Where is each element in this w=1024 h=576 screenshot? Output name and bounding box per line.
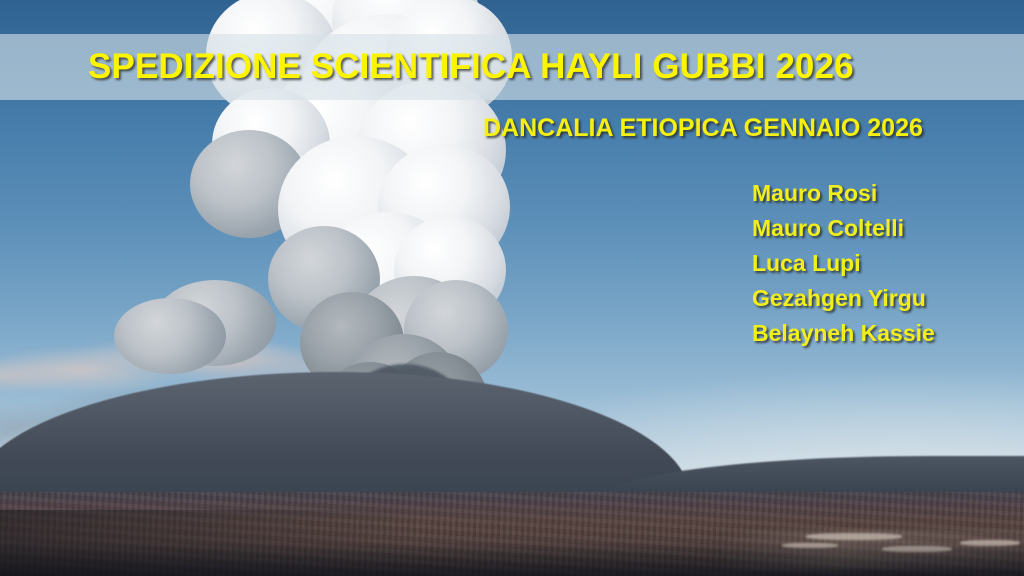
plain-shadow-bottom	[0, 542, 1024, 576]
list-item: Mauro Rosi	[752, 176, 935, 211]
page-title: SPEDIZIONE SCIENTIFICA HAYLI GUBBI 2026	[0, 34, 1024, 100]
list-item: Mauro Coltelli	[752, 211, 935, 246]
list-item: Luca Lupi	[752, 246, 935, 281]
slide-subtitle: DANCALIA ETIOPICA GENNAIO 2026	[483, 114, 923, 143]
volcano-cone	[0, 370, 1024, 500]
author-list: Mauro Rosi Mauro Coltelli Luca Lupi Geza…	[752, 176, 935, 351]
title-slide: SPEDIZIONE SCIENTIFICA HAYLI GUBBI 2026 …	[0, 0, 1024, 576]
desert-plain	[0, 492, 1024, 576]
list-item: Belayneh Kassie	[752, 316, 935, 351]
cone-slope	[0, 372, 690, 500]
list-item: Gezahgen Yirgu	[752, 281, 935, 316]
